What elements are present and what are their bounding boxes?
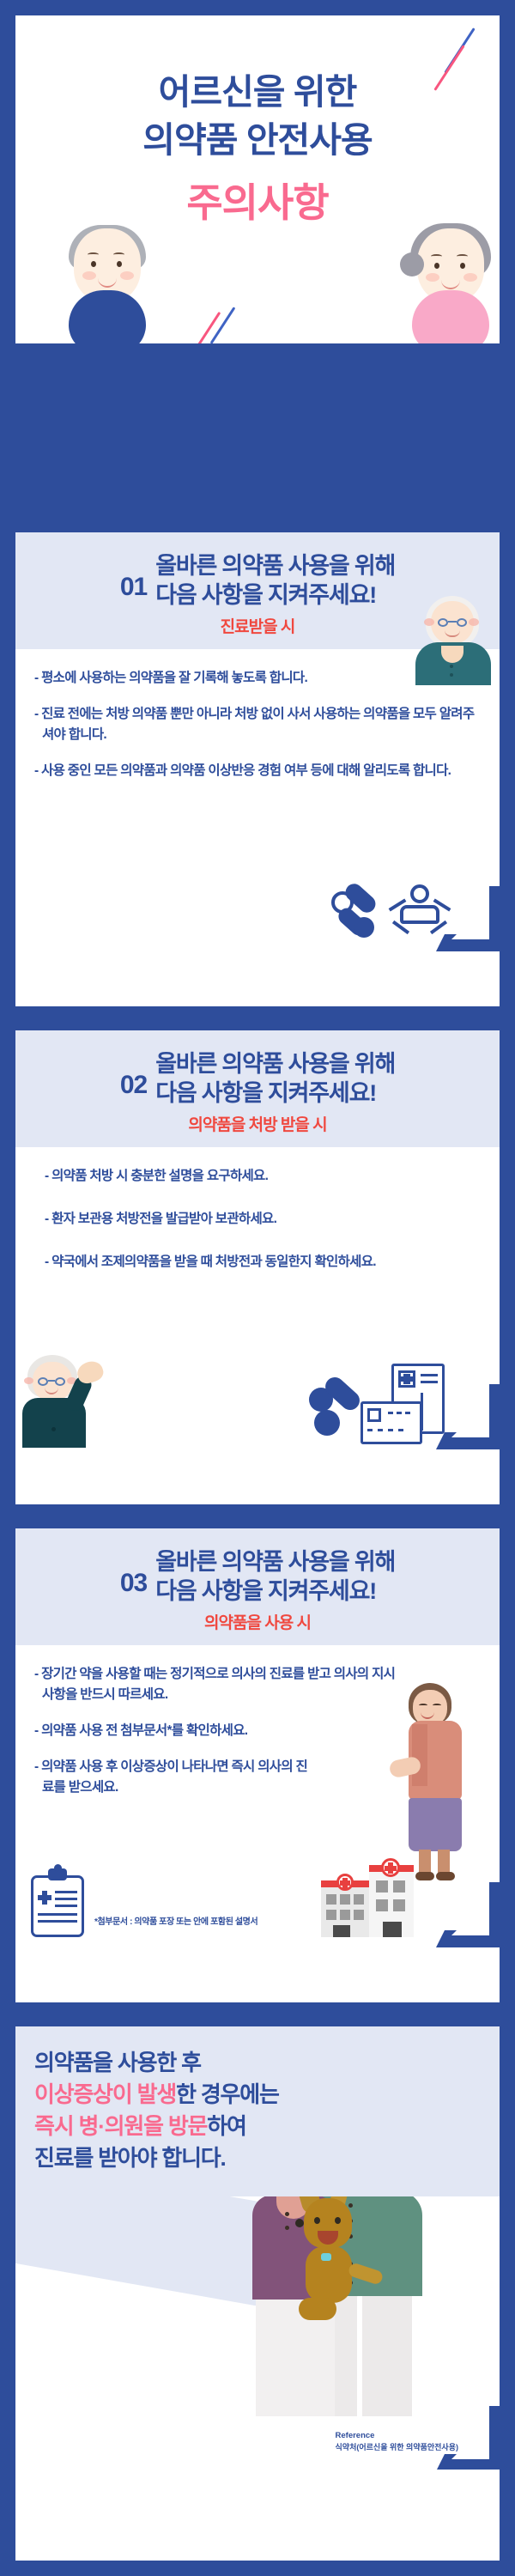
section-card-03: 03 올바른 의약품 사용을 위해 다음 사항을 지켜주세요! 의약품을 사용 …: [15, 1528, 500, 2002]
final-line-3: 즉시 병·의원을 방문하여: [34, 2111, 481, 2142]
eye-right-icon: [117, 261, 122, 267]
brow-left-icon: [431, 254, 442, 258]
hero-title-line-1: 어르신을 위한: [15, 69, 500, 115]
bullet-item: - 의약품 사용 후 이상증상이 나타나면 즉시 의사의 진료를 받으세요.: [34, 1757, 318, 1798]
hair-bun-icon: [400, 252, 424, 276]
section-body: - 의약품 처방 시 충분한 설명을 요구하세요. - 환자 보관용 처방전을 …: [15, 1147, 500, 1448]
corner-arrow-icon: [436, 1882, 500, 1947]
section-title-line-2: 다음 사항을 지켜주세요!: [155, 580, 395, 610]
section-body: - 장기간 약을 사용할 때는 정기적으로 의사의 진료를 받고 의사의 지시 …: [15, 1645, 500, 1946]
bullet-item: - 환자 보관용 처방전을 발급받아 보관하세요.: [45, 1209, 481, 1230]
reference-footer: Reference 식약처(어르신을 위한 의약품안전사용): [336, 2430, 458, 2454]
section-body: - 평소에 사용하는 의약품을 잘 기록해 놓도록 합니다. - 진료 전에는 …: [15, 649, 500, 950]
blue-slash-icon: [444, 27, 475, 74]
section-header: 02 올바른 의약품 사용을 위해 다음 사항을 지켜주세요! 의약품을 처방 …: [15, 1030, 500, 1147]
hospital-building-icon: [321, 1862, 417, 1941]
pink-slash-icon: [197, 312, 221, 343]
elderly-man-avatar: [69, 228, 146, 343]
section-title-line-2: 다음 사항을 지켜주세요!: [155, 1078, 395, 1108]
eye-right-icon: [460, 263, 465, 269]
section-header: 03 올바른 의약품 사용을 위해 다음 사항을 지켜주세요! 의약품을 사용 …: [15, 1528, 500, 1645]
final-line-1: 의약품을 사용한 후: [34, 2047, 481, 2079]
bullet-item: - 평소에 사용하는 의약품을 잘 기록해 놓도록 합니다.: [34, 668, 481, 689]
eye-left-icon: [91, 261, 96, 267]
elderly-woman-avatar: [412, 228, 489, 343]
bullet-item: - 의약품 사용 전 첨부문서*를 확인하세요.: [34, 1721, 378, 1741]
cheek-right-icon: [463, 273, 477, 282]
brow-left-icon: [88, 252, 99, 257]
bullet-item: - 사용 중인 모든 의약품과 의약품 이상반응 경험 여부 등에 대해 알리도…: [34, 761, 481, 781]
elderly-couple-with-dog-illustration: [252, 2196, 439, 2430]
elderly-woman-illustration: [390, 1683, 469, 1880]
section-title-line-1: 올바른 의약품 사용을 위해: [155, 551, 395, 580]
body-icon: [412, 290, 489, 343]
cheek-left-icon: [426, 273, 439, 282]
bullet-item: - 진료 전에는 처방 의약품 뿐만 아니라 처방 없이 사서 사용하는 의약품…: [34, 704, 481, 745]
section-card-01: 01 올바른 의약품 사용을 위해 다음 사항을 지켜주세요! 진료받을 시 -…: [15, 532, 500, 1006]
bullet-item: - 의약품 처방 시 충분한 설명을 요구하세요.: [45, 1166, 481, 1187]
reference-label: Reference: [336, 2430, 458, 2442]
body-icon: [69, 290, 146, 343]
hero-title-line-2: 의약품 안전사용: [15, 117, 500, 163]
bullet-item: - 약국에서 조제의약품을 받을 때 처방전과 동일한지 확인하세요.: [45, 1252, 481, 1273]
brow-right-icon: [113, 252, 124, 257]
blue-slash-icon: [210, 307, 236, 343]
section-title: 올바른 의약품 사용을 위해 다음 사항을 지켜주세요!: [155, 1547, 395, 1606]
brow-right-icon: [457, 254, 468, 258]
corner-arrow-icon: [436, 1384, 500, 1449]
section-title: 올바른 의약품 사용을 위해 다음 사항을 지켜주세요!: [155, 551, 395, 610]
final-line-3-highlight: 즉시 병·의원을 방문: [34, 2113, 207, 2139]
final-line-2: 이상증상이 발생한 경우에는: [34, 2079, 481, 2111]
corner-arrow-icon: [436, 886, 500, 951]
section-footnote: *첨부문서 : 의약품 포장 또는 안에 포함된 설명서: [94, 1914, 257, 1927]
final-line-2-highlight: 이상증상이 발생: [34, 2081, 176, 2107]
hero-accent-title: 주의사항: [15, 172, 500, 228]
section-number: 03: [120, 1555, 147, 1598]
final-line-4: 진료를 받아야 합니다.: [34, 2142, 481, 2174]
cheek-right-icon: [120, 271, 134, 280]
slash-decoration-bottom: [203, 306, 263, 343]
final-line-2-rest: 한 경우에는: [176, 2081, 279, 2107]
elderly-man-waving-illustration: [22, 1348, 117, 1448]
capsule-pills-icon: [328, 886, 385, 943]
section-title-line-1: 올바른 의약품 사용을 위해: [155, 1049, 395, 1078]
section-subtitle: 의약품을 사용 시: [31, 1610, 484, 1633]
final-message-text: 의약품을 사용한 후 이상증상이 발생한 경우에는 즉시 병·의원을 방문하여 …: [15, 2026, 500, 2196]
section-subtitle: 의약품을 처방 받을 시: [31, 1112, 484, 1135]
section-title-line-2: 다음 사항을 지켜주세요!: [155, 1577, 395, 1606]
cheek-left-icon: [82, 271, 96, 280]
section-number: 01: [120, 559, 147, 602]
bullet-item: - 장기간 약을 사용할 때는 정기적으로 의사의 진료를 받고 의사의 지시 …: [34, 1664, 403, 1705]
final-line-3-rest: 하여: [207, 2113, 245, 2139]
section-card-02: 02 올바른 의약품 사용을 위해 다음 사항을 지켜주세요! 의약품을 처방 …: [15, 1030, 500, 1504]
section-title: 올바른 의약품 사용을 위해 다음 사항을 지켜주세요!: [155, 1049, 395, 1108]
final-illustration-area: Reference 식약처(어르신을 위한 의약품안전사용): [15, 2196, 500, 2470]
section-number: 02: [120, 1057, 147, 1100]
hero-card: 어르신을 위한 의약품 안전사용 주의사항: [15, 15, 500, 343]
section-title-line-1: 올바른 의약품 사용을 위해: [155, 1547, 395, 1577]
clipboard-icon: [31, 1868, 84, 1937]
reference-source: 식약처(어르신을 위한 의약품안전사용): [336, 2442, 458, 2454]
eye-left-icon: [434, 263, 439, 269]
final-message-card: 의약품을 사용한 후 이상증상이 발생한 경우에는 즉시 병·의원을 방문하여 …: [15, 2026, 500, 2561]
